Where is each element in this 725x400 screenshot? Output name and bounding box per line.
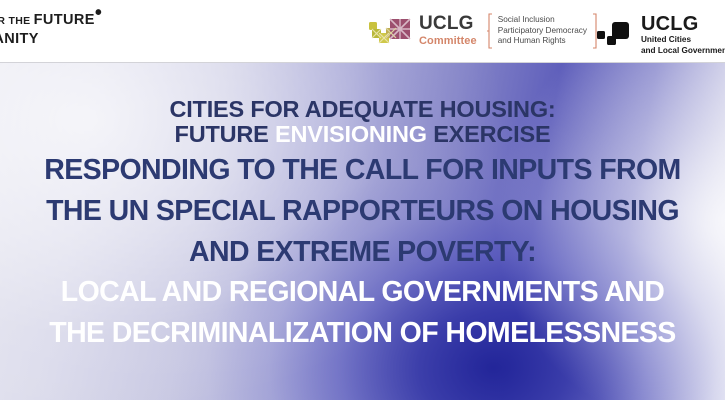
slide-subtitle: RESPONDING TO THE CALL FOR INPUTS FROM T… — [0, 150, 725, 273]
uclg-committee-committee-text: Committee — [419, 34, 477, 48]
title-main-line-2: FUTURE ENVISIONING EXERCISE — [0, 122, 725, 147]
descriptor-line-1: Social Inclusion — [498, 15, 587, 26]
pact-for-the-future-logo: ACT FOR THE FUTURE• F HUMANITY — [0, 12, 102, 49]
uclg-committee-uclg-text: UCLG — [419, 14, 477, 34]
title-main-highlight: ENVISIONING — [275, 121, 427, 147]
uclg-sub-line-1: United Cities — [641, 35, 725, 46]
pact-logo-dot-icon: • — [95, 2, 102, 24]
uclg-committee-logo: UCLG Committee Social Inclusion Particip… — [368, 13, 598, 49]
pact-logo-line-2: F HUMANITY — [0, 30, 102, 49]
title-main-line2-post: EXERCISE — [427, 121, 551, 147]
uclg-blocks-icon — [597, 19, 633, 51]
uclg-committee-descriptor: Social Inclusion Participatory Democracy… — [487, 13, 598, 49]
title-main-line-1: CITIES FOR ADEQUATE HOUSING: — [0, 97, 725, 122]
subtitle-line-2: THE UN SPECIAL RAPPORTEURS ON HOUSING — [0, 191, 725, 232]
pact-logo-line-1: ACT FOR THE FUTURE• — [0, 12, 102, 30]
uclg-sub-line-2: and Local Governments — [641, 46, 725, 57]
title-main-line2-pre: FUTURE — [175, 121, 275, 147]
uclg-mosaic-icon — [368, 13, 412, 49]
pact-logo-line2-b: HUMANITY — [0, 31, 39, 47]
presentation-slide: ACT FOR THE FUTURE• F HUMANITY — [0, 0, 725, 400]
bracket-left-icon — [487, 13, 493, 49]
descriptor-line-2: Participatory Democracy — [498, 26, 587, 37]
pact-logo-line1-c: FUTURE — [34, 12, 95, 28]
uclg-united-cities-logo: UCLG United Cities and Local Governments — [597, 14, 725, 56]
slide-bottom-heading: LOCAL AND REGIONAL GOVERNMENTS AND THE D… — [0, 272, 725, 354]
bottom-heading-line-2: THE DECRIMINALIZATION OF HOMELESSNESS — [0, 313, 725, 354]
uclg-text: UCLG — [641, 14, 725, 35]
uclg-committee-wordmark: UCLG Committee — [419, 14, 477, 48]
slide-title-main: CITIES FOR ADEQUATE HOUSING: FUTURE ENVI… — [0, 97, 725, 147]
pact-logo-line1-b: FOR THE — [0, 15, 34, 27]
uclg-committee-descriptor-text: Social Inclusion Participatory Democracy… — [498, 15, 587, 47]
descriptor-line-3: and Human Rights — [498, 36, 587, 47]
bottom-heading-line-1: LOCAL AND REGIONAL GOVERNMENTS AND — [0, 272, 725, 313]
subtitle-line-3: AND EXTREME POVERTY: — [0, 232, 725, 273]
subtitle-line-1: RESPONDING TO THE CALL FOR INPUTS FROM — [0, 150, 725, 191]
uclg-wordmark: UCLG United Cities and Local Governments — [641, 14, 725, 56]
header-divider — [0, 62, 725, 63]
